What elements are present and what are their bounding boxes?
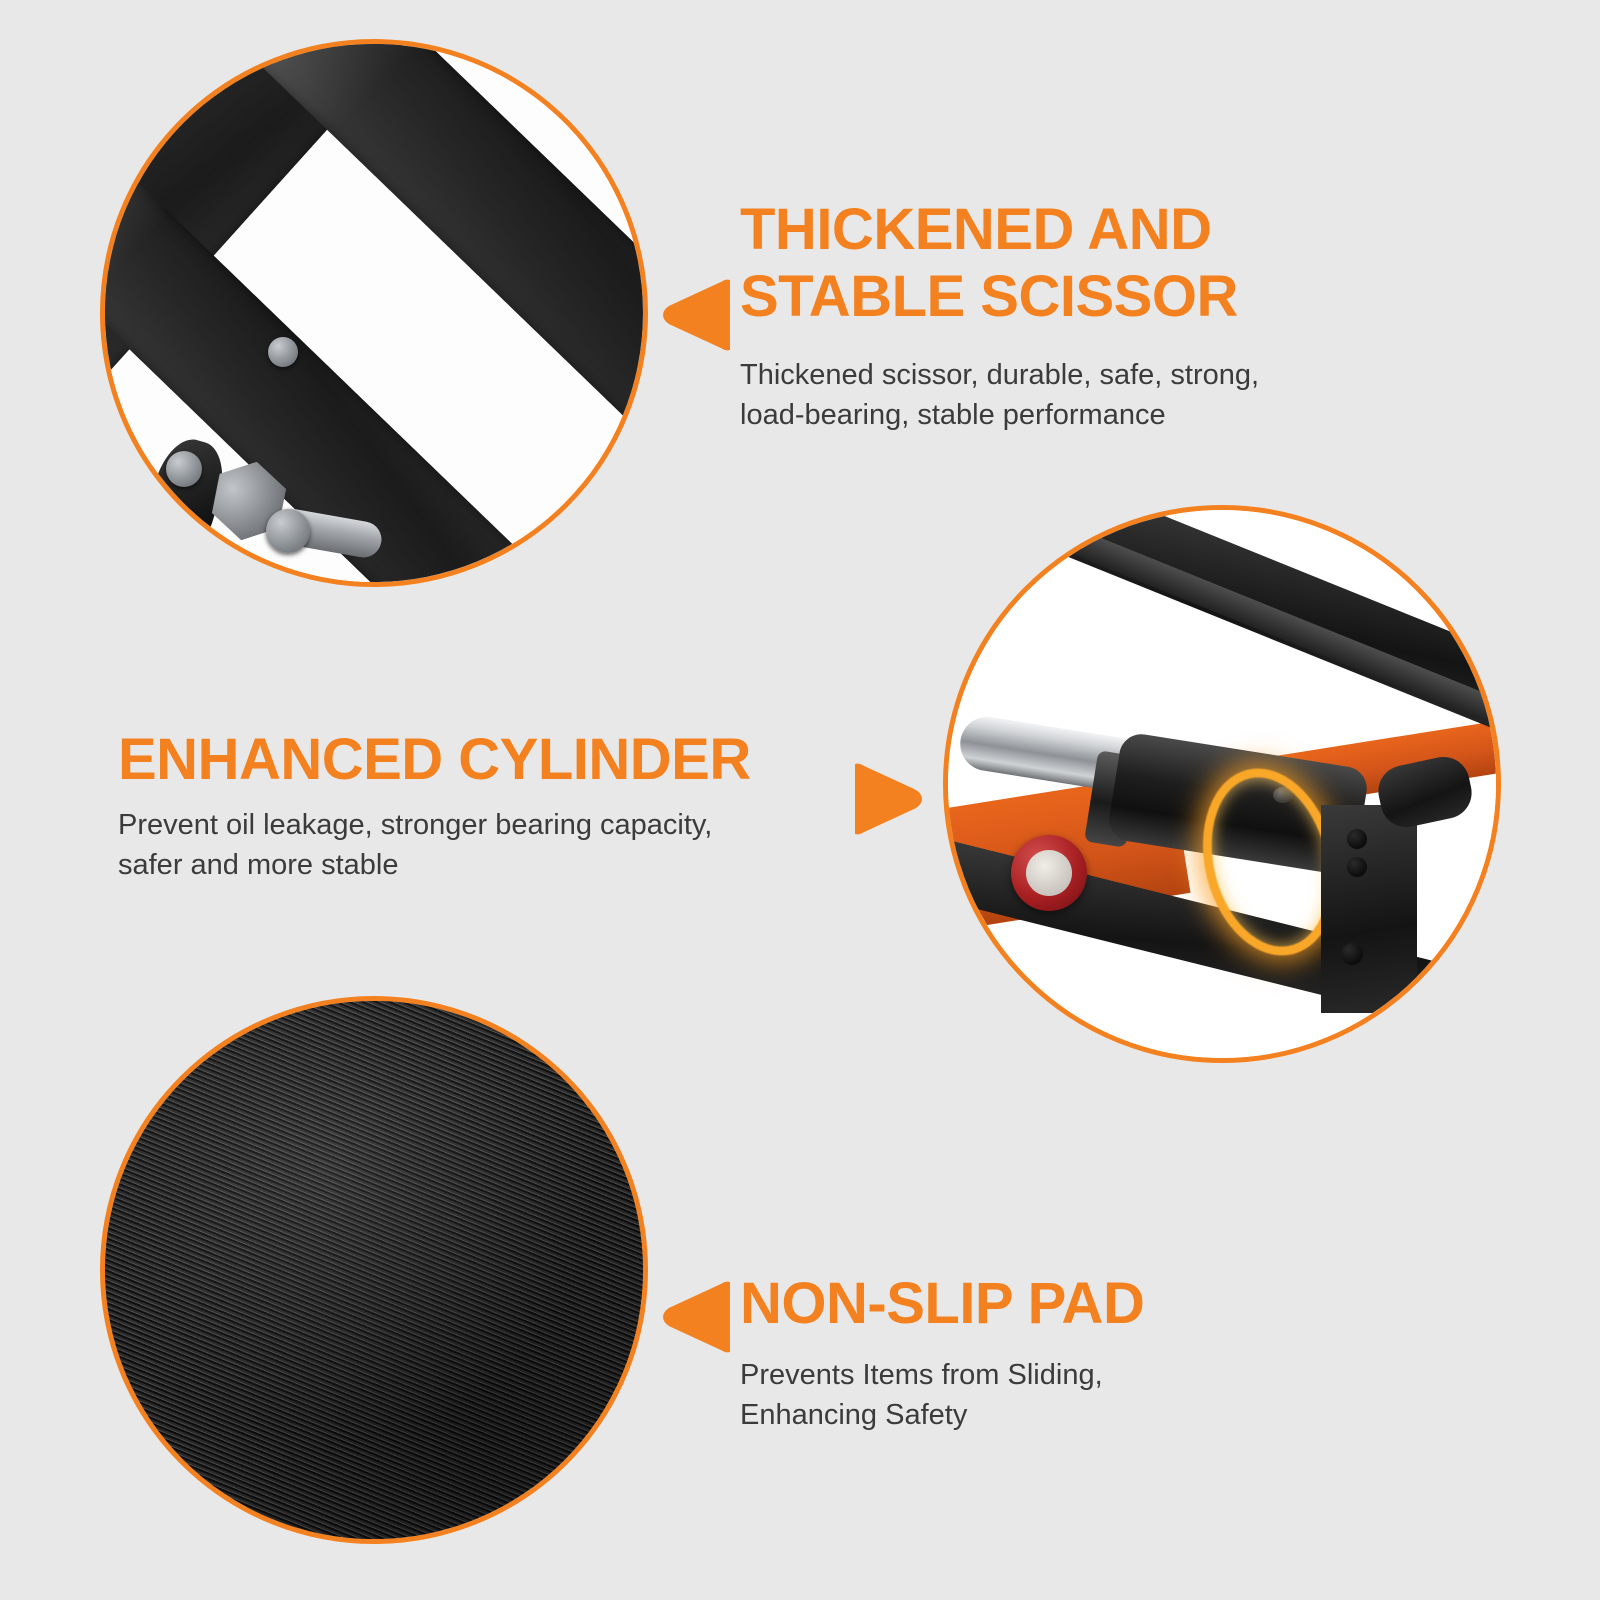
- pointer-triangle-pad: [662, 1280, 730, 1354]
- scissor-clamp-pin: [166, 451, 202, 487]
- feature-heading-cylinder: ENHANCED CYLINDER: [118, 726, 858, 793]
- feature-text-scissor: THICKENED AND STABLE SCISSOR Thickened s…: [740, 196, 1360, 435]
- pad-shading: [100, 996, 648, 1544]
- feature-text-pad: NON-SLIP PAD Prevents Items from Sliding…: [740, 1270, 1360, 1435]
- feature-body-pad: Prevents Items from Sliding, Enhancing S…: [740, 1355, 1360, 1435]
- feature-heading-pad: NON-SLIP PAD: [740, 1270, 1360, 1337]
- cylinder-mount-bracket: [1321, 805, 1417, 1013]
- scissor-pivot-pin: [268, 337, 298, 367]
- caster-wheel: [1011, 835, 1087, 911]
- feature-text-cylinder: ENHANCED CYLINDER Prevent oil leakage, s…: [118, 726, 858, 885]
- pointer-triangle-scissor: [662, 278, 730, 352]
- caster-hub: [1026, 850, 1072, 896]
- feature-body-cylinder: Prevent oil leakage, stronger bearing ca…: [118, 805, 858, 885]
- bracket-hole-1: [1347, 829, 1367, 849]
- infographic-canvas: THICKENED AND STABLE SCISSOR Thickened s…: [0, 0, 1600, 1600]
- feature-image-pad: [100, 996, 648, 1544]
- feature-image-scissor: [100, 39, 648, 587]
- feature-heading-scissor: THICKENED AND STABLE SCISSOR: [740, 196, 1360, 331]
- feature-body-scissor: Thickened scissor, durable, safe, strong…: [740, 355, 1360, 435]
- bracket-hole-2: [1347, 857, 1367, 877]
- feature-image-cylinder: [943, 505, 1501, 1063]
- bracket-hole-3: [1341, 943, 1363, 965]
- scissor-rod-end: [266, 509, 310, 553]
- pointer-triangle-cylinder: [855, 762, 923, 836]
